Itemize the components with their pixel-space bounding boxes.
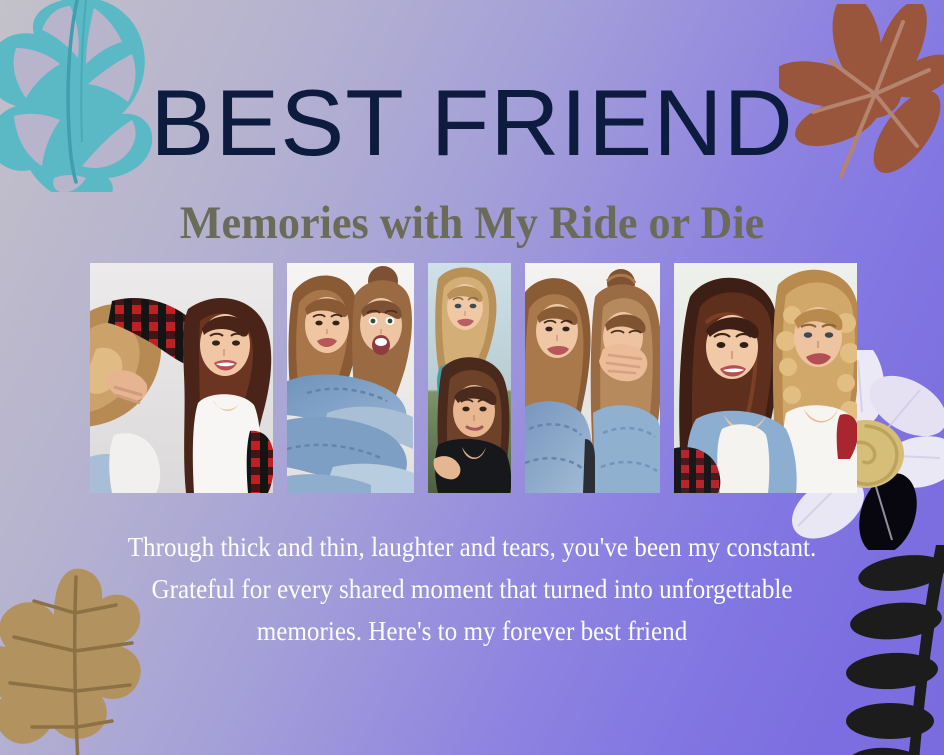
poster-canvas: BEST FRIEND Memories with My Ride or Die [0,0,944,755]
photo-thumbnail[interactable] [525,263,660,493]
photo-thumbnail[interactable] [674,263,857,493]
photo-thumbnail[interactable] [428,263,511,493]
photo-strip [90,263,856,493]
photo-thumbnail[interactable] [90,263,273,493]
photo-thumbnail[interactable] [287,263,414,493]
body-paragraph: Through thick and thin, laughter and tea… [100,526,844,652]
page-title: BEST FRIEND [0,76,944,170]
page-subtitle: Memories with My Ride or Die [28,198,915,250]
fern-frond-icon [840,545,944,755]
